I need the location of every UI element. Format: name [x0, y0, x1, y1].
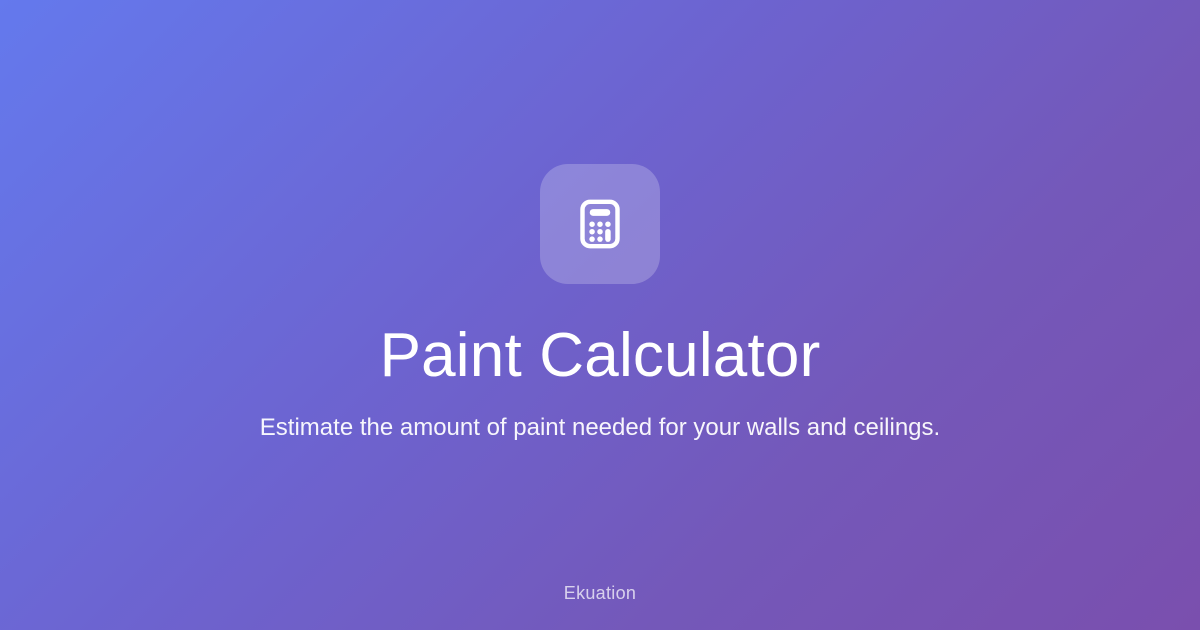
page-subtitle: Estimate the amount of paint needed for …: [260, 412, 940, 444]
calculator-icon: [572, 196, 628, 252]
brand-name: Ekuation: [0, 583, 1200, 604]
page-title: Paint Calculator: [380, 322, 821, 390]
og-preview-card: Paint Calculator Estimate the amount of …: [0, 0, 1200, 630]
hero-content: Paint Calculator Estimate the amount of …: [0, 164, 1200, 445]
app-icon-tile: [540, 164, 660, 284]
